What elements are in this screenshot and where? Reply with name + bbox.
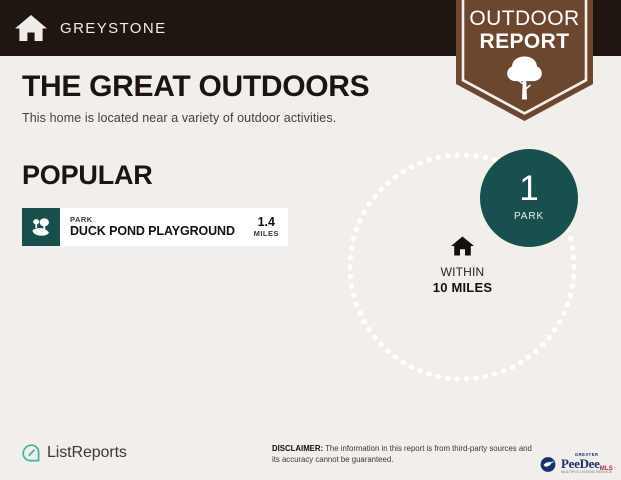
poi-distance-value: 1.4 (258, 216, 275, 230)
mls-abbreviation: MLS (600, 466, 613, 472)
outdoor-report-page: GREYSTONE OUTDOOR REPORT THE GREAT OUTDO… (0, 0, 621, 480)
park-count-bubble: 1 PARK (480, 149, 578, 247)
within-label: WITHIN (340, 265, 585, 280)
section-heading-popular: POPULAR (22, 160, 153, 191)
mls-emblem-icon (539, 455, 559, 473)
poi-category: PARK (70, 216, 249, 224)
home-icon (14, 13, 48, 43)
within-value: 10 MILES (340, 280, 585, 296)
disclaimer: DISCLAIMER: The information in this repo… (272, 443, 534, 466)
poi-list: PARK DUCK POND PLAYGROUND 1.4 MILES (22, 208, 288, 246)
poi-list-item[interactable]: PARK DUCK POND PLAYGROUND 1.4 MILES (22, 208, 288, 246)
disclaimer-label: DISCLAIMER: (272, 444, 323, 453)
listreports-pin-icon (22, 443, 41, 463)
listreports-logo-text: ListReports (47, 444, 127, 462)
page-title: THE GREAT OUTDOORS (22, 70, 442, 103)
poi-distance: 1.4 MILES (249, 208, 288, 246)
title-block: THE GREAT OUTDOORS This home is located … (22, 70, 442, 125)
mls-logo: GREATER PeeDee MULTIPLE LISTING SERVICE … (539, 452, 613, 476)
brand-name: GREYSTONE (60, 20, 167, 37)
park-tree-icon (22, 208, 60, 246)
home-icon (450, 244, 475, 261)
poi-distance-unit: MILES (254, 229, 279, 238)
listreports-logo[interactable]: ListReports (22, 443, 127, 463)
park-count-label: PARK (514, 211, 544, 222)
outdoor-report-badge: OUTDOOR REPORT (456, 0, 593, 121)
poi-text: PARK DUCK POND PLAYGROUND (60, 208, 249, 246)
page-subtitle: This home is located near a variety of o… (22, 111, 442, 125)
poi-name: DUCK POND PLAYGROUND (70, 224, 249, 238)
home-marker: WITHIN 10 MILES (340, 235, 585, 296)
park-count-number: 1 (519, 172, 538, 205)
